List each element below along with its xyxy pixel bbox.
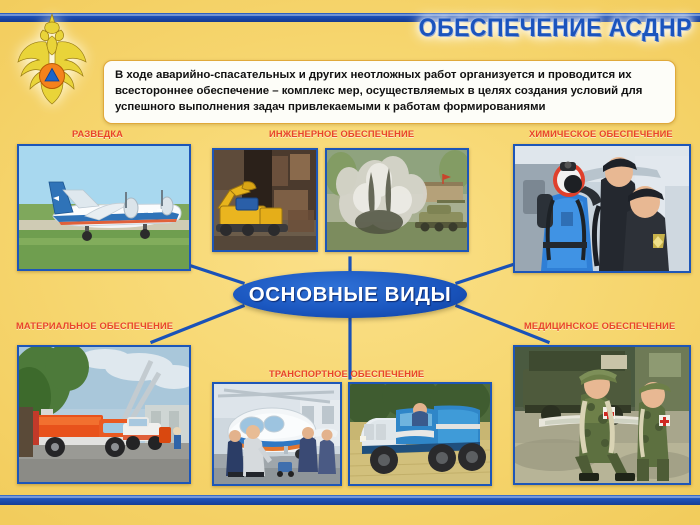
photo-medics-stretcher-image	[515, 347, 689, 483]
photo-demolition-blast	[325, 148, 469, 252]
photo-recon-aircraft	[17, 144, 191, 271]
poster-canvas: ОБЕСПЕЧЕНИЕ АСДНР В ходе аварийно-спасат…	[0, 0, 700, 525]
photo-fire-trucks	[17, 345, 191, 484]
hub-label: ОСНОВНЫЕ ВИДЫ	[249, 283, 452, 307]
hub-ellipse: ОСНОВНЫЕ ВИДЫ	[233, 271, 467, 318]
caption-himicheskoe: ХИМИЧЕСКОЕ ОБЕСПЕЧЕНИЕ	[529, 129, 673, 139]
caption-razvedka: РАЗВЕДКА	[72, 129, 123, 139]
photo-helicopter	[212, 382, 342, 486]
caption-inzhenernoe: ИНЖЕНЕРНОЕ ОБЕСПЕЧЕНИЕ	[269, 129, 414, 139]
photo-helicopter-image	[214, 384, 340, 484]
photo-fire-trucks-image	[19, 347, 189, 482]
photo-demolition-blast-image	[327, 150, 467, 250]
photo-hazmat-crew	[513, 144, 691, 273]
caption-materialnoe: МАТЕРИАЛЬНОЕ ОБЕСПЕЧЕНИЕ	[16, 321, 173, 331]
caption-transportnoe: ТРАНСПОРТНОЕ ОБЕСПЕЧЕНИЕ	[269, 369, 424, 379]
photo-recon-aircraft-image	[19, 146, 189, 269]
caption-medicinskoe: МЕДИЦИНСКОЕ ОБЕСПЕЧЕНИЕ	[524, 321, 675, 331]
photo-excavator	[212, 148, 318, 252]
photo-medics-stretcher	[513, 345, 691, 485]
photo-offroad-truck	[348, 382, 492, 486]
photo-offroad-truck-image	[350, 384, 490, 484]
photo-excavator-image	[214, 150, 316, 250]
photo-hazmat-crew-image	[515, 146, 689, 271]
